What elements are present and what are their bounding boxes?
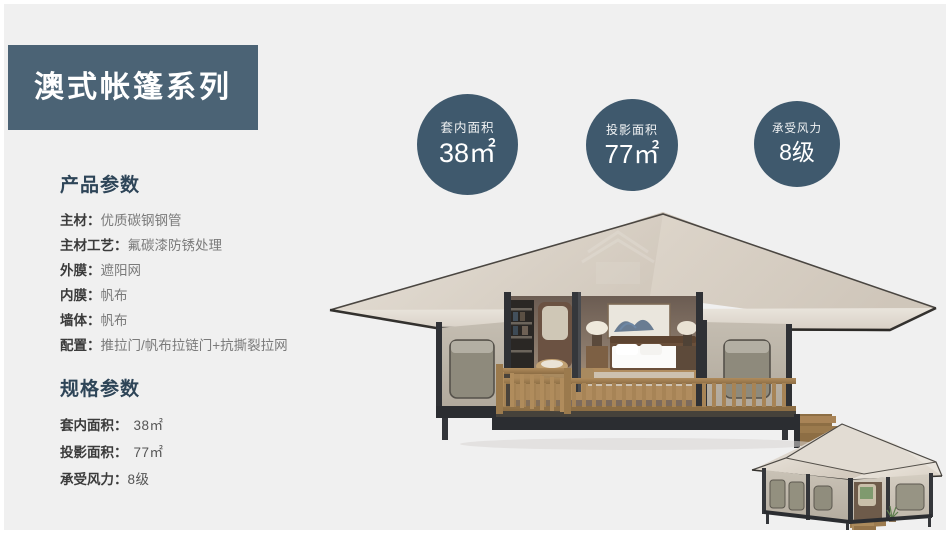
spec-parameters-heading: 规格参数 [60,374,164,401]
param-value: 帆布 [101,313,128,328]
product-param-row: 墙体：帆布 [60,308,288,333]
param-value: 8级 [128,472,150,487]
product-param-row: 内膜：帆布 [60,283,288,308]
product-parameters-heading: 产品参数 [60,170,288,197]
slide-page: 澳式帐篷系列 产品参数 主材：优质碳钢钢管 主材工艺：氟碳漆防锈处理 外膜：遮阳… [0,0,950,534]
product-param-row: 配置：推拉门/帆布拉链门+抗撕裂拉网 [60,333,288,358]
param-label: 墙体： [60,313,101,328]
spec-param-row: 投影面积：77㎡ [60,439,164,466]
param-label: 承受风力： [60,472,128,487]
stat-circle-interior-area: 套内面积 38㎡ [417,94,518,195]
product-param-row: 主材工艺：氟碳漆防锈处理 [60,233,288,258]
product-param-row: 外膜：遮阳网 [60,258,288,283]
param-value: 遮阳网 [101,263,142,278]
stat-caption: 套内面积 [440,122,494,135]
param-value: 帆布 [101,288,128,303]
param-label: 主材工艺： [60,238,128,253]
stat-circle-projected-area: 投影面积 77㎡ [586,99,678,191]
param-value: 优质碳钢钢管 [101,213,182,228]
param-value: 氟碳漆防锈处理 [128,238,223,253]
param-value: 77㎡ [134,445,164,460]
stat-caption: 承受风力 [772,124,822,136]
stat-circle-wind-resistance: 承受风力 8级 [754,101,840,187]
spec-parameters-section: 规格参数 套内面积：38㎡ 投影面积：77㎡ 承受风力：8级 [60,374,164,493]
param-label: 套内面积： [60,418,128,433]
spec-param-row: 承受风力：8级 [60,466,164,493]
param-label: 主材： [60,213,101,228]
param-label: 内膜： [60,288,101,303]
param-value: 38㎡ [134,418,164,433]
stat-value: 77㎡ [605,141,660,167]
slide-canvas: 澳式帐篷系列 产品参数 主材：优质碳钢钢管 主材工艺：氟碳漆防锈处理 外膜：遮阳… [4,4,946,530]
param-value: 推拉门/帆布拉链门+抗撕裂拉网 [101,338,288,353]
stat-value: 38㎡ [439,140,496,167]
param-label: 投影面积： [60,445,128,460]
product-param-row: 主材：优质碳钢钢管 [60,208,288,233]
secondary-tent-image [746,418,946,530]
stat-caption: 投影面积 [606,124,658,136]
param-label: 外膜： [60,263,101,278]
product-parameters-section: 产品参数 主材：优质碳钢钢管 主材工艺：氟碳漆防锈处理 外膜：遮阳网 内膜：帆布… [60,170,288,358]
param-label: 配置： [60,338,101,353]
title-banner: 澳式帐篷系列 [8,45,258,130]
spec-param-row: 套内面积：38㎡ [60,412,164,439]
stat-value: 8级 [779,141,815,164]
page-title: 澳式帐篷系列 [34,73,232,103]
